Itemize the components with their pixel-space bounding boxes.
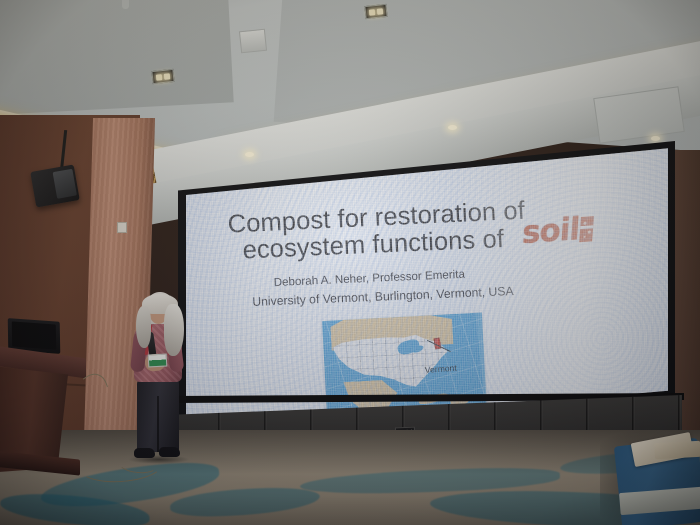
laptop-screen <box>12 321 56 349</box>
ceiling-air-diffuser <box>239 29 267 54</box>
presenter-hair-right <box>164 304 184 356</box>
light-switch-plate[interactable] <box>117 222 127 233</box>
screen-glare <box>456 146 668 434</box>
presenter-hair-left <box>136 306 151 348</box>
presentation-photo-scene: Compost for restoration of ecosystem fun… <box>0 0 700 525</box>
presenter-leg-seam <box>157 396 159 452</box>
ceiling-light-fixture <box>151 69 174 84</box>
ceiling-soffit-left <box>0 0 234 117</box>
speaker-face <box>53 169 77 199</box>
presenter-shoe-left <box>134 448 155 458</box>
presenter-figure <box>126 292 188 464</box>
ceiling-downlight <box>448 125 457 130</box>
sprinkler-head-icon <box>122 0 129 9</box>
wall-speaker <box>30 164 80 207</box>
papers-on-chair-second <box>654 441 700 459</box>
led-presentation-screen[interactable]: Compost for restoration of ecosystem fun… <box>186 146 668 434</box>
ceiling-light-fixture <box>364 4 387 19</box>
ceiling-downlight <box>245 152 254 157</box>
presenter-shoe-right <box>159 447 180 457</box>
foreground-chair <box>607 431 700 525</box>
presenter-name-badge <box>148 354 168 368</box>
ceiling-downlight <box>651 136 660 141</box>
